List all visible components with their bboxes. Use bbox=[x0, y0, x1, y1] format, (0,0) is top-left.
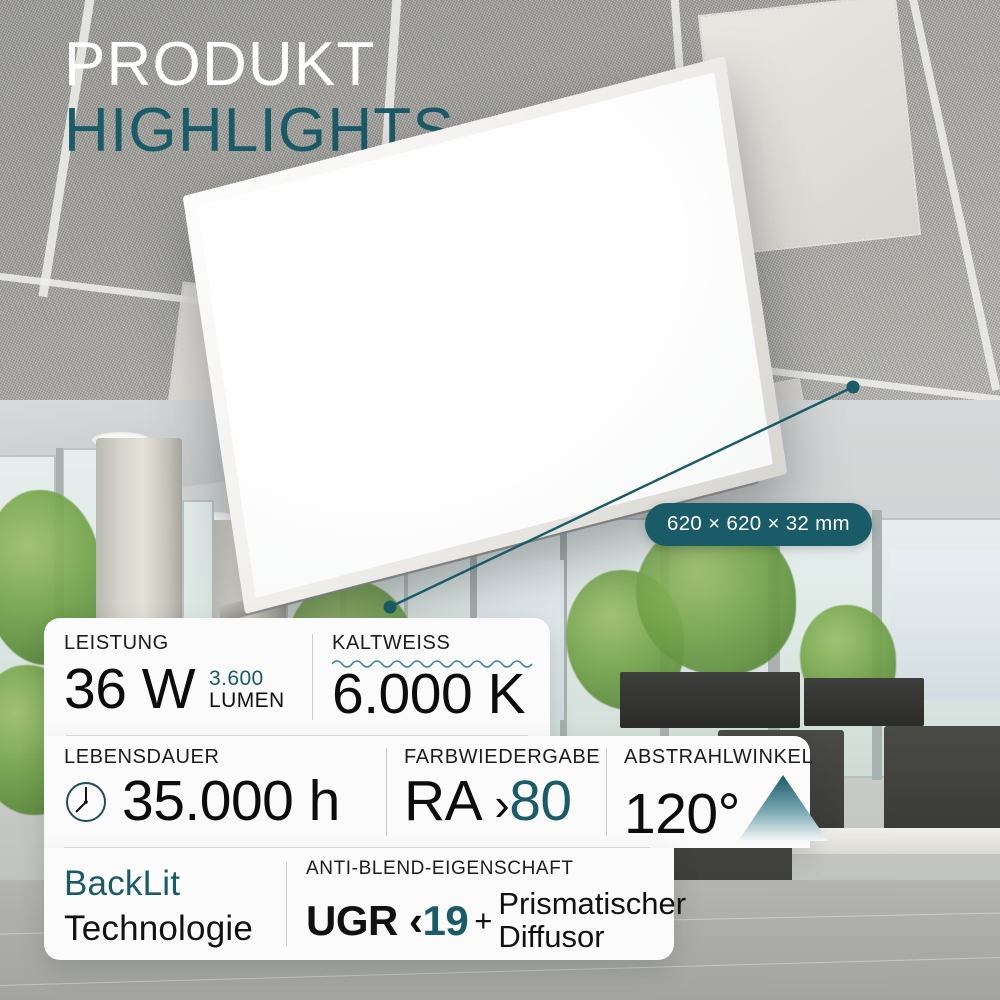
spec-cri: FARBWIEDERGABE RA ›80 bbox=[404, 746, 600, 830]
spec-value-lumen: 3.600 bbox=[209, 668, 285, 690]
spec-technology-suffix: Technologie bbox=[64, 907, 253, 952]
spec-value-power: 36 W bbox=[64, 661, 195, 718]
beam-triangle-icon bbox=[736, 773, 830, 843]
plus-symbol: + bbox=[474, 903, 492, 939]
spec-row-lifetime-cri-beam: LEBENSDAUER 35.000 h FARBWIEDERGABE RA ›… bbox=[44, 736, 810, 848]
spec-card: LEISTUNG 36 W 3.600 LUMEN KALTWEISS 6.00… bbox=[44, 618, 810, 960]
column-divider bbox=[606, 748, 607, 836]
spec-technology: BackLit Technologie bbox=[64, 862, 253, 952]
spec-unit-lumen: LUMEN bbox=[209, 690, 285, 712]
spec-lifetime: LEBENSDAUER 35.000 h bbox=[64, 746, 340, 830]
spec-label-antiglare: ANTI-BLEND-EIGENSCHAFT bbox=[306, 858, 686, 880]
spec-value-ugr: UGR ‹19 bbox=[306, 897, 468, 945]
spec-value-cri-operator: › bbox=[494, 778, 509, 830]
spec-technology-name: BackLit bbox=[64, 862, 253, 907]
column-divider bbox=[286, 862, 287, 946]
spec-power: LEISTUNG 36 W 3.600 LUMEN bbox=[64, 632, 285, 718]
ugr-operator: ‹ bbox=[409, 897, 423, 944]
spec-beam-angle: ABSTRAHLWINKEL 120° bbox=[624, 746, 830, 843]
diffuser-line-2: Diffusor bbox=[498, 921, 686, 954]
spec-label-beam: ABSTRAHLWINKEL bbox=[624, 746, 830, 769]
spec-label-lifetime: LEBENSDAUER bbox=[64, 746, 340, 769]
diffuser-line-1: Prismatischer bbox=[498, 888, 686, 921]
spec-label-power: LEISTUNG bbox=[64, 632, 285, 655]
led-panel-product bbox=[205, 125, 845, 625]
spec-color-temperature: KALTWEISS 6.000 K bbox=[332, 632, 538, 723]
ugr-number: 19 bbox=[423, 897, 469, 944]
spec-label-colortemp: KALTWEISS bbox=[332, 632, 538, 655]
spec-label-cri: FARBWIEDERGABE bbox=[404, 746, 600, 769]
title-line-1: PRODUKT bbox=[64, 32, 455, 98]
column-divider bbox=[386, 748, 387, 836]
spec-antiglare: ANTI-BLEND-EIGENSCHAFT UGR ‹19 + Prismat… bbox=[306, 858, 686, 954]
spec-value-lifetime: 35.000 h bbox=[122, 773, 340, 830]
spec-value-cri-prefix: RA bbox=[404, 769, 494, 833]
clock-icon bbox=[64, 780, 108, 824]
spec-row-power-colortemp: LEISTUNG 36 W 3.600 LUMEN KALTWEISS 6.00… bbox=[44, 618, 550, 736]
ugr-prefix: UGR bbox=[306, 897, 409, 944]
spec-row-technology-antiglare: BackLit Technologie ANTI-BLEND-EIGENSCHA… bbox=[44, 848, 674, 960]
plant-box bbox=[804, 678, 924, 726]
spec-value-colortemp: 6.000 K bbox=[332, 666, 538, 723]
product-highlight-image: PRODUKT HIGHLIGHTS 620 × 620 × 32 mm LEI… bbox=[0, 0, 1000, 1000]
dimension-badge: 620 × 620 × 32 mm bbox=[645, 503, 872, 546]
monitor bbox=[884, 726, 1000, 834]
spec-value-cri: 80 bbox=[509, 769, 571, 833]
spec-value-beam: 120° bbox=[624, 786, 740, 843]
column-divider bbox=[312, 634, 313, 720]
